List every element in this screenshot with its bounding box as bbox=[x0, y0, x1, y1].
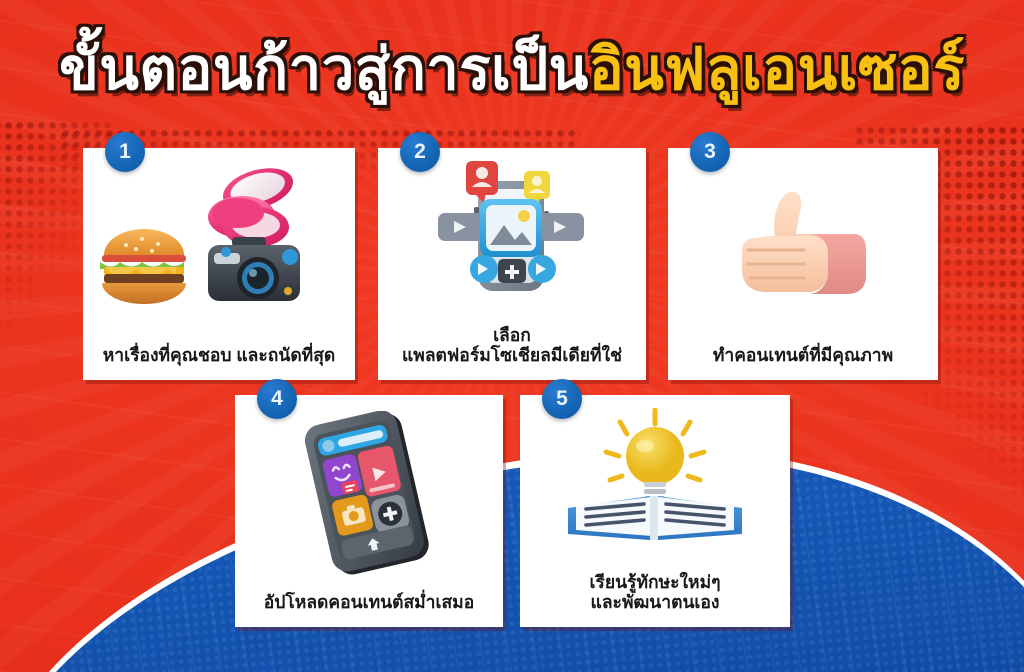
step-card-4[interactable]: 4 bbox=[235, 395, 503, 627]
share-arrow-left bbox=[438, 213, 484, 241]
step-illustration-3 bbox=[668, 148, 938, 345]
page-title: ขั้นตอนก้าวสู่การเป็นอินฟลูเอนเซอร์ bbox=[0, 40, 1024, 101]
page-title-highlight: อินฟลูเอนเซอร์ bbox=[589, 37, 965, 102]
step-caption-5: เรียนรู้ทักษะใหม่ๆ และพัฒนาตนเอง bbox=[581, 572, 728, 627]
niche-icons-group bbox=[94, 167, 344, 327]
step-card-3[interactable]: 3 ท bbox=[668, 148, 938, 380]
smartphone-media-share-icon bbox=[422, 159, 602, 314]
step-illustration-1 bbox=[83, 148, 355, 345]
camera-icon bbox=[208, 237, 300, 301]
step-illustration-4 bbox=[235, 395, 503, 592]
step-number-badge-4: 4 bbox=[257, 379, 297, 419]
step-number-badge-3: 3 bbox=[690, 132, 730, 172]
makeup-compact-icon bbox=[208, 167, 298, 247]
smartphone-apps-icon bbox=[284, 411, 454, 576]
step-illustration-2 bbox=[378, 148, 646, 325]
step-card-2[interactable]: 2 bbox=[378, 148, 646, 380]
step-caption-1: หาเรื่องที่คุณชอบ และถนัดที่สุด bbox=[95, 345, 344, 380]
thumbs-up-icon bbox=[708, 172, 898, 322]
step-number-badge-5: 5 bbox=[542, 379, 582, 419]
step-card-1[interactable]: 1 bbox=[83, 148, 355, 380]
lightbulb-book-icon bbox=[558, 408, 753, 558]
step-caption-2: เลือก แพลตฟอร์มโซเชียลมีเดียที่ใช่ bbox=[394, 325, 630, 380]
step-caption-4: อัปโหลดคอนเทนต์สม่ำเสมอ bbox=[256, 592, 482, 627]
step-card-5[interactable]: 5 bbox=[520, 395, 790, 627]
step-number-badge-1: 1 bbox=[105, 132, 145, 172]
infographic-canvas: ขั้นตอนก้าวสู่การเป็นอินฟลูเอนเซอร์ 1 bbox=[0, 0, 1024, 672]
burger-icon bbox=[100, 229, 186, 304]
page-title-primary: ขั้นตอนก้าวสู่การเป็น bbox=[59, 37, 589, 102]
step-number-badge-2: 2 bbox=[400, 132, 440, 172]
step-illustration-5 bbox=[520, 395, 790, 572]
step-caption-3: ทำคอนเทนต์ที่มีคุณภาพ bbox=[705, 345, 901, 380]
share-arrow-right bbox=[538, 213, 584, 241]
